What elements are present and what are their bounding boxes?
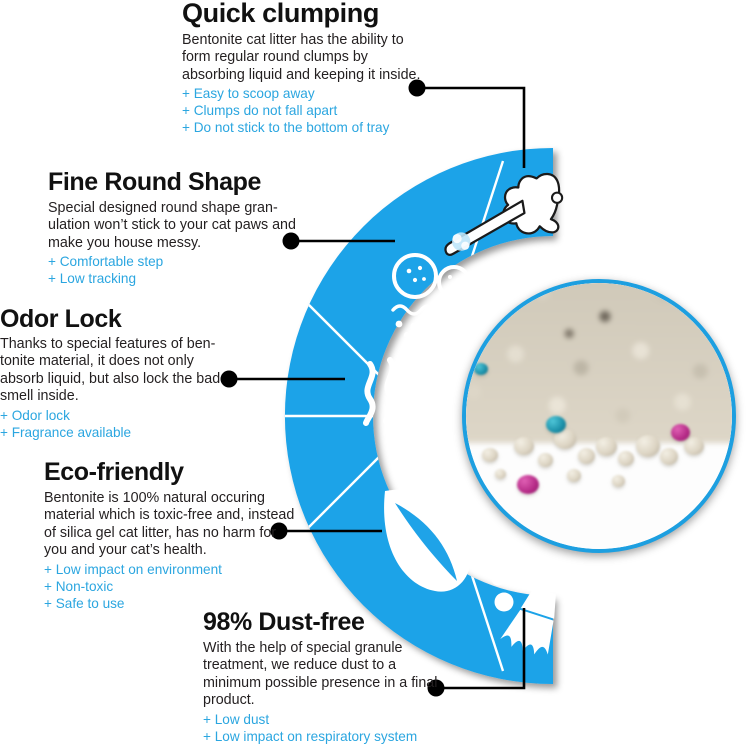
granule [567, 469, 581, 482]
feature-body: Thanks to special features of ben-tonite… [0, 336, 232, 406]
feature-bullet: + Low impact on respiratory system [203, 728, 443, 745]
cat-litter-granules-photo [462, 279, 736, 553]
feature-block-odor-lock: Odor Lock Thanks to special features of … [0, 307, 232, 441]
feature-bullets: + Odor lock + Fragrance available [0, 407, 232, 441]
litter-bed-blur [466, 283, 732, 443]
feature-bullets: + Low impact on environment + Non-toxic … [44, 561, 296, 612]
granule-teal [546, 416, 566, 433]
granule-magenta [517, 475, 539, 494]
feature-bullet: + Easy to scoop away [182, 85, 424, 102]
feature-block-eco-friendly: Eco-friendly Bentonite is 100% natural o… [44, 460, 296, 612]
feature-title: 98% Dust-free [203, 610, 443, 640]
granule [596, 437, 617, 456]
feature-body: Bentonite is 100% natural occuring mater… [44, 490, 296, 560]
granule-magenta [671, 424, 690, 441]
feature-title: Quick clumping [182, 0, 424, 32]
infographic-canvas: Quick clumping Bentonite cat litter has … [0, 0, 747, 748]
feature-bullet: + Clumps do not fall apart [182, 102, 424, 119]
feature-bullet: + Low impact on environment [44, 561, 296, 578]
granule [514, 437, 534, 455]
feature-bullet: + Comfortable step [48, 253, 298, 270]
feature-bullet: + Do not stick to the bottom of tray [182, 119, 424, 136]
feature-body: With the help of special granule treatme… [203, 640, 443, 710]
granule [636, 435, 660, 457]
photo-image [466, 283, 732, 549]
feature-body: Bentonite cat litter has the ability to … [182, 32, 424, 84]
feature-bullet: + Non-toxic [44, 578, 296, 595]
feature-title: Odor Lock [0, 307, 232, 336]
granule [538, 453, 553, 467]
feature-bullets: + Comfortable step + Low tracking [48, 253, 298, 287]
feature-block-quick-clumping: Quick clumping Bentonite cat litter has … [182, 0, 424, 136]
granule [660, 448, 678, 465]
granule [684, 437, 704, 455]
feature-body: Special designed round shape gran-ulatio… [48, 200, 298, 252]
feature-bullet: + Low tracking [48, 270, 298, 287]
feature-bullet: + Low dust [203, 711, 443, 728]
granule [578, 448, 595, 464]
granule [618, 451, 634, 466]
granule [612, 475, 625, 487]
granule [495, 469, 506, 479]
feature-block-fine-round-shape: Fine Round Shape Special designed round … [48, 170, 298, 287]
feature-bullet: + Odor lock [0, 407, 232, 424]
granule [482, 448, 498, 462]
granule-teal [474, 363, 488, 375]
feature-block-dust-free: 98% Dust-free With the help of special g… [203, 610, 443, 745]
feature-bullet: + Fragrance available [0, 424, 232, 441]
feature-bullets: + Easy to scoop away + Clumps do not fal… [182, 85, 424, 136]
feature-bullets: + Low dust + Low impact on respiratory s… [203, 711, 443, 745]
feature-title: Eco-friendly [44, 460, 296, 490]
feature-title: Fine Round Shape [48, 170, 298, 200]
